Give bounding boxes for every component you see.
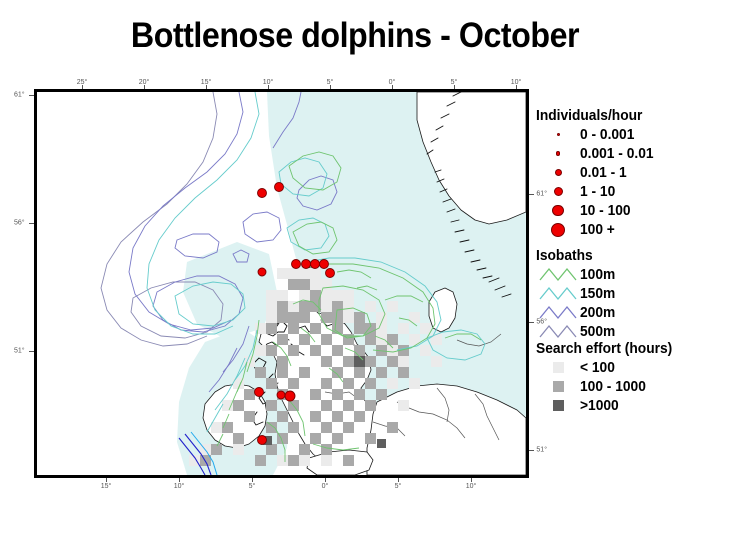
legend-individuals-row: 1 - 10 [536, 182, 748, 201]
legend-isobath-swatch-cell [536, 304, 580, 321]
legend-isobath-row: 500m [536, 322, 748, 341]
axis-tick-mark [454, 85, 455, 89]
legend-effort-label: < 100 [580, 360, 615, 376]
legend-dot-icon [557, 133, 560, 136]
axis-tick-mark [82, 85, 83, 89]
legend-isobaths-block: Isobaths 100m150m200m500m [536, 248, 748, 341]
axis-tick-mark [516, 85, 517, 89]
isobath-line-icon [539, 285, 577, 302]
map-frame [34, 89, 529, 478]
legend-search-effort-block: Search effort (hours) < 100100 - 1000>10… [536, 341, 748, 415]
axis-tick-mark [330, 85, 331, 89]
observation-dot [311, 260, 320, 269]
axis-tick-label: 51° [14, 348, 25, 355]
observation-dot [258, 189, 267, 198]
isobath-line-icon [539, 304, 577, 321]
axis-tick-label: 61° [14, 92, 25, 99]
legend-effort-row: >1000 [536, 396, 748, 415]
legend-individuals-label: 0 - 0.001 [580, 127, 634, 143]
axis-tick-label: 56° [14, 220, 25, 227]
axis-tick-mark [471, 478, 472, 482]
legend-isobath-row: 150m [536, 284, 748, 303]
axis-tick-label: 5° [395, 483, 402, 490]
legend-isobath-swatch-cell [536, 266, 580, 283]
axis-tick-mark [29, 95, 34, 96]
legend-individuals-label: 1 - 10 [580, 184, 615, 200]
observation-dot [292, 260, 301, 269]
legend-dot-icon [551, 223, 565, 237]
effort-square-icon [553, 400, 564, 411]
legend-effort-row: 100 - 1000 [536, 377, 748, 396]
observation-dot [302, 260, 311, 269]
legend-individuals-label: 10 - 100 [580, 203, 631, 219]
legend-dot-swatch-cell [536, 133, 580, 136]
axis-tick-mark [529, 194, 534, 195]
legend-isobath-label: 100m [580, 267, 615, 283]
legend-isobaths-heading: Isobaths [536, 248, 737, 265]
observation-dot [320, 260, 329, 269]
axis-tick-mark [529, 450, 534, 451]
legend-individuals-row: 0.001 - 0.01 [536, 144, 748, 163]
observation-dot [275, 183, 284, 192]
axis-tick-label: 5° [249, 483, 256, 490]
axis-tick-mark [252, 478, 253, 482]
legend-dot-swatch-cell [536, 169, 580, 176]
observation-dot [285, 391, 295, 401]
page-title: Bottlenose dolphins - October [28, 16, 681, 56]
legend-dot-icon [554, 187, 563, 196]
effort-square-icon [553, 381, 564, 392]
axis-tick-label: 10° [174, 483, 185, 490]
legend-effort-row: < 100 [536, 358, 748, 377]
legend-effort-swatch-cell [536, 400, 580, 411]
legend-individuals-label: 0.01 - 1 [580, 165, 627, 181]
legend-dot-swatch-cell [536, 187, 580, 196]
axis-tick-mark [392, 85, 393, 89]
isobath-line-icon [539, 266, 577, 283]
axis-tick-mark [398, 478, 399, 482]
observation-dot [277, 391, 285, 399]
legend-individuals-heading: Individuals/hour [536, 108, 737, 125]
legend-individuals-row: 10 - 100 [536, 201, 748, 220]
effort-square-icon [553, 362, 564, 373]
legend-isobath-swatch-cell [536, 285, 580, 302]
legend-individuals-label: 0.001 - 0.01 [580, 146, 654, 162]
legend-panel: Individuals/hour 0 - 0.0010.001 - 0.010.… [536, 108, 748, 415]
legend-search-effort-heading: Search effort (hours) [536, 341, 737, 358]
axis-tick-label: 0° [322, 483, 329, 490]
legend-effort-label: 100 - 1000 [580, 379, 646, 395]
legend-isobath-label: 500m [580, 324, 615, 340]
legend-dot-swatch-cell [536, 223, 580, 237]
legend-individuals-row: 100 + [536, 220, 748, 239]
axis-tick-mark [29, 351, 34, 352]
legend-dot-swatch-cell [536, 205, 580, 217]
legend-isobath-label: 150m [580, 286, 615, 302]
legend-effort-label: >1000 [580, 398, 619, 414]
legend-dot-icon [555, 169, 562, 176]
axis-tick-label: 51° [536, 447, 547, 454]
axis-tick-mark [106, 478, 107, 482]
legend-isobath-row: 200m [536, 303, 748, 322]
axis-tick-label: 15° [101, 483, 112, 490]
isobath-line-icon [539, 323, 577, 340]
axis-tick-mark [144, 85, 145, 89]
axis-tick-mark [29, 223, 34, 224]
observation-dot [258, 436, 267, 445]
axis-tick-label: 10° [466, 483, 477, 490]
observation-dot [258, 268, 266, 276]
legend-individuals-row: 0 - 0.001 [536, 125, 748, 144]
observation-dot [326, 269, 335, 278]
legend-isobath-swatch-cell [536, 323, 580, 340]
legend-isobath-label: 200m [580, 305, 615, 321]
observation-dot [255, 388, 264, 397]
legend-isobath-row: 100m [536, 265, 748, 284]
legend-dot-icon [552, 205, 564, 217]
axis-tick-mark [529, 322, 534, 323]
legend-dot-icon [556, 151, 561, 156]
axis-tick-mark [179, 478, 180, 482]
legend-individuals-row: 0.01 - 1 [536, 163, 748, 182]
legend-effort-swatch-cell [536, 362, 580, 373]
legend-individuals-block: Individuals/hour 0 - 0.0010.001 - 0.010.… [536, 108, 748, 239]
axis-tick-mark [325, 478, 326, 482]
legend-dot-swatch-cell [536, 151, 580, 156]
legend-effort-swatch-cell [536, 381, 580, 392]
axis-tick-mark [206, 85, 207, 89]
legend-individuals-label: 100 + [580, 222, 615, 238]
map-panel: 25°20°15°10°5°0°5°10°15°10°5°0°5°10°61°5… [34, 89, 529, 478]
axis-tick-mark [268, 85, 269, 89]
map-canvas [37, 92, 526, 475]
